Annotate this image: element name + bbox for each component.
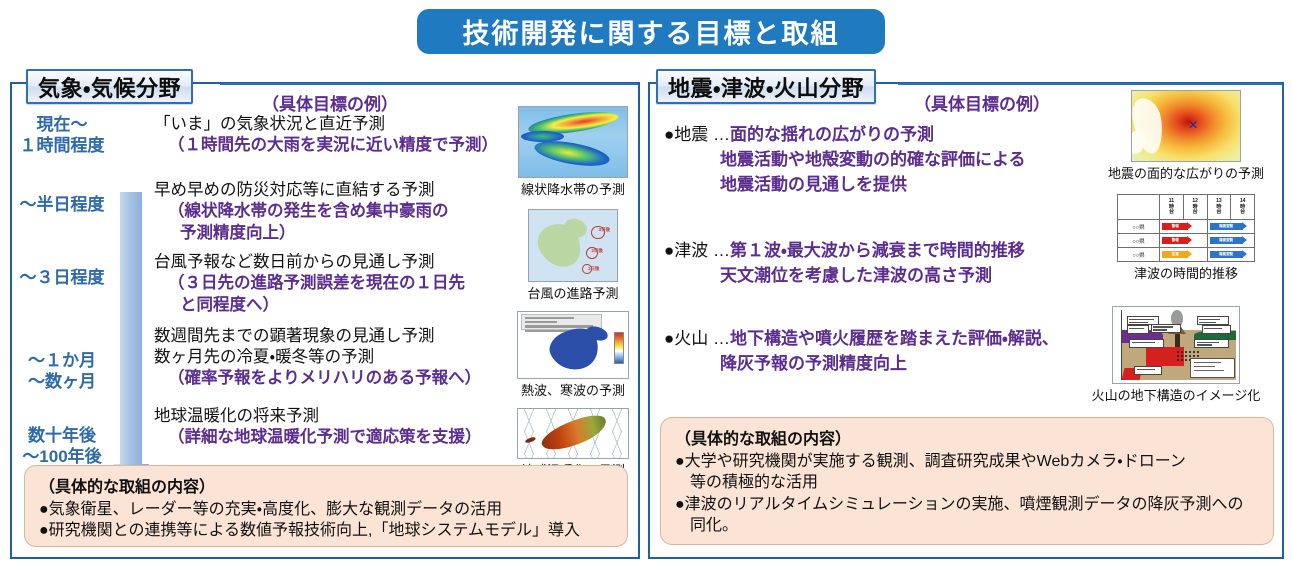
weather-section-tab: 気象・気候分野 [26,69,193,104]
seismic-bullet-1-highlight-1: 天文潮位を考慮した津波の高さ予測 [664,261,1084,286]
page-title: 技術開発に関する目標と取組 [463,12,840,51]
seismic-section-label: 地震・津波・火山分野 [668,71,864,103]
weather-thumbnail-2-caption: 熱波、寒波の予測 [510,380,636,399]
seismic-bullet-volcano: ●火山 …地下構造や噴火履歴を踏まえた評価・解説、 降灰予報の予測精度向上 [664,324,1104,374]
weather-goal-3-plain-0: 数週間先までの顕著現象の見通し予測 [154,326,526,347]
weather-goal-0-plain-0: 「いま」の気象状況と直近予測 [154,114,526,135]
seismic-bullet-1-head: ●津波 … [664,241,730,260]
seismic-bullet-2-head: ●火山 … [664,329,730,348]
weather-thumbnail-0-caption: 線状降水帯の予測 [510,179,636,198]
seismic-tab-rule [898,83,1282,85]
seismic-bullet-2-line-0: ●火山 …地下構造や噴火履歴を踏まえた評価・解説、 [664,324,1104,349]
timeline-item-0-line-0: 現在～ [14,114,110,135]
seismic-thumbnail-1-caption: 津波の時間的推移 [1090,263,1282,282]
timeline-item-0-line-1: １時間程度 [14,135,110,156]
seismic-bullet-1-highlight-0: 第１波・最大波から減衰まで時間的推移 [730,241,1025,260]
weather-goal-example-label: （具体目標の例） [262,90,398,115]
timeline-item-2-line-0: ～３日程度 [14,267,110,288]
seismic-bullet-0-line-0: ●地震 …面的な揺れの広がりの予測 [664,120,1084,145]
seismic-thumbnail-0-caption: 地震の面的な広がりの予測 [1090,163,1282,182]
timeline-item-3-line-1: ～数ヶ月 [14,371,110,392]
tsunami-row-0-pref: ○○県 [1118,220,1160,234]
tsunami-row-1-first: 警報 [1162,237,1188,244]
seismic-thumbnail-1: 11時台 12時台 13時台 14時台 ○○県 警報 海面変動 ○○県 [1090,194,1282,282]
tsunami-table-header-row: 11時台 12時台 13時台 14時台 [1118,195,1255,220]
weather-goal-4-plain-0: 地球温暖化の将来予測 [154,406,526,427]
weather-goal-2: 台風予報など数日前からの見通し予測 （３日先の進路予測誤差を現在の１日先 と同程… [154,252,526,316]
seismic-thumbnail-2: 火山の地下構造のイメージ化 [1070,306,1282,404]
weather-goal-0-highlight-0: （１時間先の大雨を実況に近い精度で予測） [154,135,526,156]
weather-goal-1-highlight-0: （線状降水帯の発生を含め集中豪雨の [154,201,526,222]
seismic-bullet-1-line-0: ●津波 …第１波・最大波から減衰まで時間的推移 [664,236,1084,261]
timeline-item-1-line-0: ～半日程度 [14,194,110,215]
tsunami-row-1-second: 海面変動 [1210,237,1243,244]
seismic-thumbnail-0: ✕ 地震の面的な広がりの予測 [1090,90,1282,182]
weather-goal-3: 数週間先までの顕著現象の見通し予測 数ヶ月先の冷夏・暖冬等の予測 （確率予報をよ… [154,326,526,390]
seismic-bullet-0-highlight-2: 地震活動の見通しを提供 [664,170,1084,195]
seismic-measures-item-2: ●津波のリアルタイムシミュレーションの実施、噴煙観測データの降灰予測への [675,494,1261,515]
tsunami-row-0-second: 海面変動 [1210,223,1243,230]
seismic-bullet-0-highlight-0: 面的な揺れの広がりの予測 [730,125,934,144]
weather-goal-1-plain-0: 早め早めの防災対応等に直結する予測 [154,180,526,201]
tsunami-row-2-first: 注意 [1162,251,1188,258]
seismic-thumbnail-2-caption: 火山の地下構造のイメージ化 [1070,385,1282,404]
seismic-bullet-tsunami: ●津波 …第１波・最大波から減衰まで時間的推移 天文潮位を考慮した津波の高さ予測 [664,236,1084,286]
tsunami-col-2: 13時台 [1207,195,1231,220]
tsunami-table-row: ○○県 警報 海面変動 [1118,234,1255,248]
seismic-intensity-map: ✕ [1131,90,1241,162]
timeline-item-3: ～１か月 ～数ヶ月 [14,350,110,393]
typhoon-track-map: 3日後 2日後 1日後 [528,209,618,282]
weather-thumbnail-2: 熱波、寒波の予測 [510,311,636,399]
weather-measures-item-1: ●研究機関との連携等による数値予報技術向上,「地球システムモデル」導入 [39,520,615,541]
tsunami-table-row: ○○県 注意 海面変動 [1118,248,1255,262]
volcano-cross-section [1112,306,1240,384]
weather-goal-2-plain-0: 台風予報など数日前からの見通し予測 [154,252,526,273]
radar-image [518,106,628,178]
seismic-bullet-earthquake: ●地震 …面的な揺れの広がりの予測 地震活動や地殻変動の的確な評価による 地震活… [664,120,1084,195]
timeline-item-0: 現在～ １時間程度 [14,114,110,157]
weather-section-label: 気象・気候分野 [38,71,181,103]
tsunami-table-row: ○○県 警報 海面変動 [1118,220,1255,234]
seismic-bullet-2-highlight-1: 降灰予報の予測精度向上 [664,349,1104,374]
weather-thumbnail-1-caption: 台風の進路予測 [510,283,636,302]
tsunami-col-0: 11時台 [1160,195,1184,220]
weather-goal-4-highlight-0: （詳細な地球温暖化予測で適応策を支援） [154,427,526,448]
weather-thumbnail-1: 3日後 2日後 1日後 台風の進路予測 [510,209,636,302]
seismic-section-tab: 地震・津波・火山分野 [656,69,876,104]
tsunami-col-1: 12時台 [1183,195,1207,220]
weather-timeline-column: 現在～ １時間程度 ～半日程度 ～３日程度 ～１か月 ～数ヶ月 数十年後 ～10… [14,112,110,472]
tsunami-row-2-second: 海面変動 [1210,251,1243,258]
weather-measures-box: （具体的な取組の内容） ●気象衛星、レーダー等の充実・高度化、膨大な観測データの… [24,465,628,547]
timeline-item-4-line-0: 数十年後 [14,425,110,446]
weather-goal-0: 「いま」の気象状況と直近予測 （１時間先の大雨を実況に近い精度で予測） [154,114,526,157]
tsunami-timeline-table: 11時台 12時台 13時台 14時台 ○○県 警報 海面変動 ○○県 [1117,194,1255,262]
weather-thumbnail-0: 線状降水帯の予測 [510,106,636,198]
weather-tab-rule [220,83,638,85]
weather-goal-3-plain-1: 数ヶ月先の冷夏・暖冬等の予測 [154,347,526,368]
seismic-goal-example-label: （具体目標の例） [914,90,1050,115]
tsunami-col-3: 14時台 [1231,195,1255,220]
tsunami-row-0-first: 警報 [1162,223,1188,230]
seismic-measures-item-0: ●大学や研究機関が実施する観測、調査研究成果やWebカメラ・ドローン [675,451,1261,472]
seismic-measures-item-1: 等の積極的な活用 [675,472,1261,493]
weather-climate-panel: 気象・気候分野 （具体目標の例） 現在～ １時間程度 ～半日程度 ～３日程度 ～… [10,82,640,559]
weather-goal-3-highlight-0: （確率予報をよりメリハリのある予報へ） [154,368,526,389]
weather-measures-title: （具体的な取組の内容） [39,473,615,497]
seismic-measures-box: （具体的な取組の内容） ●大学や研究機関が実施する観測、調査研究成果やWebカメ… [660,417,1274,545]
weather-goal-2-highlight-1: と同程度へ） [154,295,526,316]
heat-cold-wave-map [517,311,629,379]
seismic-bullet-0-head: ●地震 … [664,125,730,144]
tsunami-row-2-pref: ○○県 [1118,248,1160,262]
page-title-banner: 技術開発に関する目標と取組 [417,9,885,54]
seismic-measures-item-3: 同化。 [675,515,1261,536]
weather-goal-1-highlight-1: 予測精度向上） [154,223,526,244]
seismic-measures-title: （具体的な取組の内容） [675,425,1261,449]
weather-goal-4: 地球温暖化の将来予測 （詳細な地球温暖化予測で適応策を支援） [154,406,526,449]
weather-goal-2-highlight-0: （３日先の進路予測誤差を現在の１日先 [154,273,526,294]
weather-measures-item-0: ●気象衛星、レーダー等の充実・高度化、膨大な観測データの活用 [39,499,615,520]
seismic-bullet-0-highlight-1: 地震活動や地殻変動の的確な評価による [664,145,1084,170]
timeline-item-1: ～半日程度 [14,194,110,215]
seismic-bullet-2-highlight-0: 地下構造や噴火履歴を踏まえた評価・解説、 [730,329,1059,348]
tsunami-row-1-pref: ○○県 [1118,234,1160,248]
timeline-item-2: ～３日程度 [14,267,110,288]
timeline-item-3-line-0: ～１か月 [14,350,110,371]
global-warming-map [517,408,629,459]
timeline-item-4: 数十年後 ～100年後 [14,425,110,468]
weather-goal-1: 早め早めの防災対応等に直結する予測 （線状降水帯の発生を含め集中豪雨の 予測精度… [154,180,526,244]
seismic-tsunami-volcano-panel: 地震・津波・火山分野 （具体目標の例） ●地震 …面的な揺れの広がりの予測 地震… [648,82,1284,559]
tsunami-table: 11時台 12時台 13時台 14時台 ○○県 警報 海面変動 ○○県 [1117,194,1255,262]
